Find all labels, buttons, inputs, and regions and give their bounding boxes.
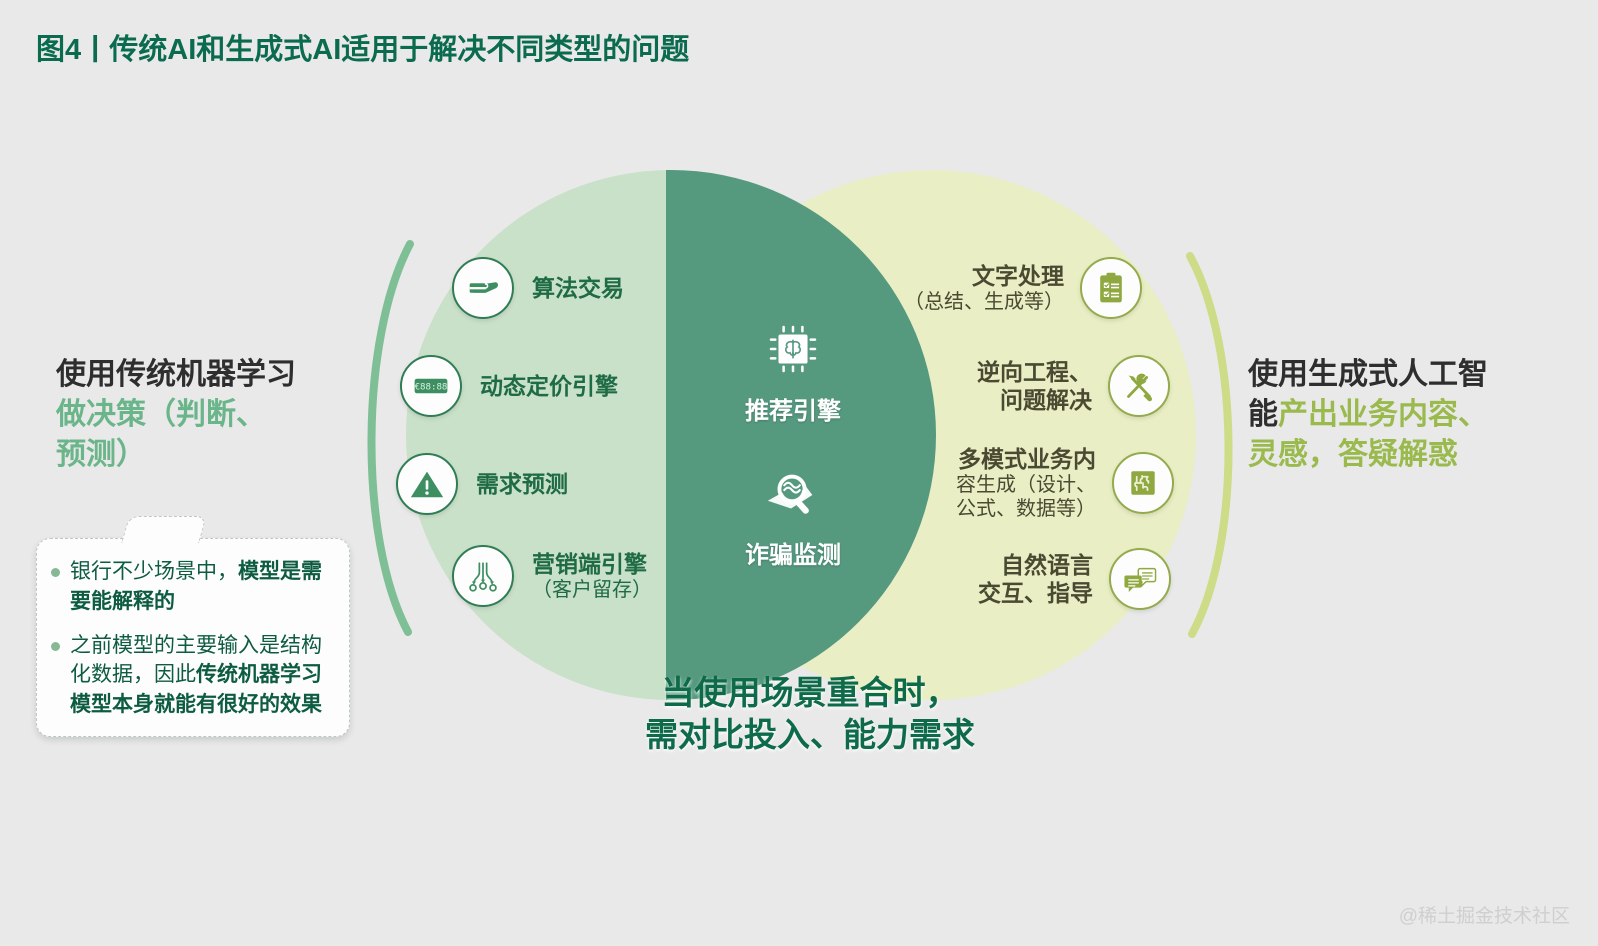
callout-flap xyxy=(121,516,207,543)
center-item-label: 诈骗监测 xyxy=(678,535,908,570)
left-item-marketing-engine[interactable]: 营销端引擎 （客户留存） xyxy=(452,545,652,607)
right-item-label-sub1: 容生成（设计、 xyxy=(900,473,1096,497)
ai-chip-brain-icon xyxy=(762,318,824,380)
right-item-label-line1: 多模式业务内 xyxy=(958,446,1096,472)
right-item-label: 多模式业务内 容生成（设计、 公式、数据等） xyxy=(900,445,1096,522)
chat-bubbles-icon xyxy=(1109,548,1171,610)
callout-bullet-text: 银行不少场景中，模型是需要能解释的 xyxy=(70,557,331,617)
right-header-line2-accent: 产出业务内容、 xyxy=(1278,398,1488,431)
callout-b1-plain1: 银行不少场景中， xyxy=(70,560,238,583)
venn-overlap-region xyxy=(666,170,936,700)
price-display-icon: €88:88 xyxy=(400,355,462,417)
left-item-dynamic-pricing[interactable]: €88:88 动态定价引擎 xyxy=(400,355,618,417)
bottom-caption-line2: 需对比投入、能力需求 xyxy=(645,716,975,753)
venn-overlap-lens xyxy=(666,170,936,700)
callout-bullet-2: 之前模型的主要输入是结构化数据，因此传统机器学习模型本身就能有很好的效果 xyxy=(51,631,331,720)
svg-text:€88:88: €88:88 xyxy=(415,383,448,393)
tools-wrench-screwdriver-icon xyxy=(1108,355,1170,417)
right-item-natural-language[interactable]: 自然语言 交互、指导 xyxy=(935,548,1171,610)
watermark: @稀土掘金技术社区 xyxy=(1399,901,1570,928)
callout-bullet-1: 银行不少场景中，模型是需要能解释的 xyxy=(51,557,331,617)
right-item-label-line2: 交互、指导 xyxy=(978,580,1093,606)
right-header-line3: 灵感，答疑解惑 xyxy=(1248,438,1458,471)
right-item-label-sub: （总结、生成等） xyxy=(868,290,1064,314)
magnifier-fraud-icon xyxy=(762,462,824,524)
handshake-card-icon xyxy=(452,257,514,319)
bottom-caption-line1: 当使用场景重合时， xyxy=(662,674,959,711)
right-item-multimodal-generation[interactable]: 多模式业务内 容生成（设计、 公式、数据等） xyxy=(900,445,1174,522)
callout-b2-bold3: 能有很好的效果 xyxy=(175,693,322,716)
callout-bullet-text: 之前模型的主要输入是结构化数据，因此传统机器学习模型本身就能有很好的效果 xyxy=(70,631,331,720)
title-text: 传统AI和生成式AI适用于解决不同类型的问题 xyxy=(109,26,689,68)
left-item-algorithmic-trading[interactable]: 算法交易 xyxy=(452,257,624,319)
bullet-dot-icon xyxy=(51,568,60,577)
warning-triangle-icon xyxy=(396,453,458,515)
right-item-label-line1: 自然语言 xyxy=(1001,552,1093,578)
page-title: 图4 | 传统AI和生成式AI适用于解决不同类型的问题 xyxy=(36,26,689,68)
right-item-text-processing[interactable]: 文字处理 （总结、生成等） xyxy=(868,257,1142,319)
right-section-header: 使用生成式人工智 能产出业务内容、 灵感，答疑解惑 xyxy=(1248,355,1568,475)
puzzle-piece-icon xyxy=(1112,452,1174,514)
right-header-line1: 使用生成式人工智 xyxy=(1248,358,1488,391)
left-header-line1: 使用传统机器学习 xyxy=(56,358,296,391)
right-item-label-main: 文字处理 xyxy=(972,263,1064,289)
left-item-demand-forecast[interactable]: 需求预测 xyxy=(396,453,568,515)
center-item-fraud-detection[interactable]: 诈骗监测 xyxy=(678,462,908,570)
left-item-label: 算法交易 xyxy=(532,274,624,302)
clipboard-checklist-icon xyxy=(1080,257,1142,319)
left-item-label: 需求预测 xyxy=(476,470,568,498)
right-item-label-line1: 逆向工程、 xyxy=(977,359,1092,385)
left-header-line3: 预测） xyxy=(56,438,146,471)
figure-number: 图4 xyxy=(36,26,81,68)
bullet-dot-icon xyxy=(51,642,60,651)
right-item-reverse-engineering[interactable]: 逆向工程、 问题解决 xyxy=(920,355,1170,417)
left-item-label: 动态定价引擎 xyxy=(480,372,618,400)
left-header-line2: 做决策（判断、 xyxy=(56,398,266,431)
right-item-label: 逆向工程、 问题解决 xyxy=(920,358,1092,414)
left-item-label: 营销端引擎 （客户留存） xyxy=(532,550,652,602)
infographic-canvas: 图4 | 传统AI和生成式AI适用于解决不同类型的问题 使用传统机器学习 做决策… xyxy=(0,0,1598,946)
right-item-label: 自然语言 交互、指导 xyxy=(935,551,1093,607)
callout-b1-bold1: 模型 xyxy=(238,560,280,583)
center-item-label: 推荐引擎 xyxy=(678,391,908,426)
right-header-line2-dark: 能 xyxy=(1248,398,1278,431)
callout-box: 银行不少场景中，模型是需要能解释的 之前模型的主要输入是结构化数据，因此传统机器… xyxy=(36,538,350,737)
callout-b2-plain1: 之前模型的主要输入是 xyxy=(70,634,280,657)
venn-diagram xyxy=(406,170,1196,700)
left-item-label-sub: （客户留存） xyxy=(532,578,652,602)
center-item-recommendation-engine[interactable]: 推荐引擎 xyxy=(678,318,908,426)
funnel-distribution-icon xyxy=(452,545,514,607)
bottom-caption: 当使用场景重合时， 需对比投入、能力需求 xyxy=(560,672,1060,756)
right-item-label-line2: 问题解决 xyxy=(1000,387,1092,413)
callout-b2-bold1: 传统 xyxy=(196,663,238,686)
left-section-header: 使用传统机器学习 做决策（判断、 预测） xyxy=(56,355,356,475)
left-item-label-main: 营销端引擎 xyxy=(532,551,647,577)
right-item-label-sub2: 公式、数据等） xyxy=(900,497,1096,521)
title-separator: | xyxy=(91,31,99,64)
right-item-label: 文字处理 （总结、生成等） xyxy=(868,262,1064,314)
